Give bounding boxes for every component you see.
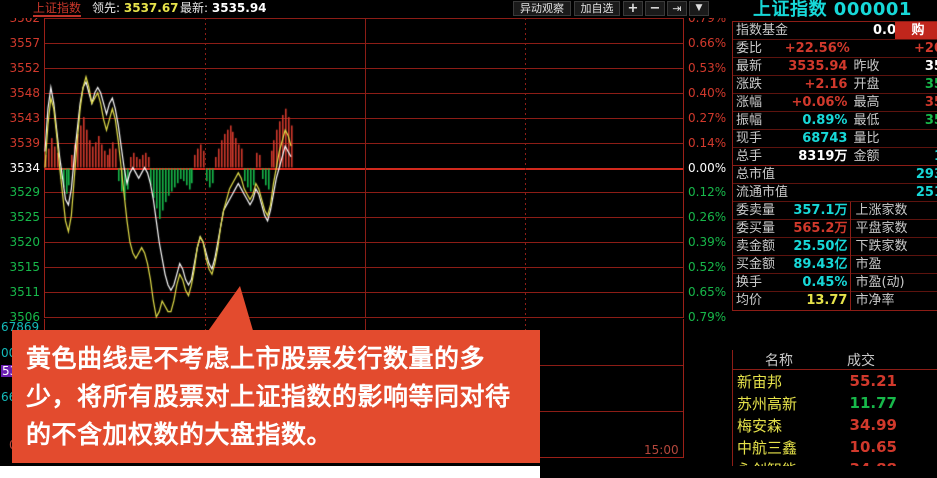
stock-list-row[interactable]: 新宙邦55.21 bbox=[733, 370, 937, 392]
quote-row-label: 总手 bbox=[733, 148, 785, 166]
annotation-callout: 黄色曲线是不考虑上市股票发行数量的多少，将所有股票对上证指数的影响等同对待的不含… bbox=[12, 330, 540, 463]
quote-panel-title: 上证指数 000001 bbox=[728, 0, 937, 20]
stock-price: 11.77 bbox=[825, 394, 897, 412]
quote-row-label: 涨跌 bbox=[733, 76, 785, 94]
quote-row-label-2: 平盘家数 bbox=[850, 220, 937, 238]
stock-name: 苏州高新 bbox=[733, 393, 825, 414]
quote-row-label-2: 最低 bbox=[850, 112, 896, 130]
chart-latest-readout: 最新: 3535.94 bbox=[180, 1, 267, 16]
quote-row-label-2: 金额 bbox=[850, 148, 896, 166]
quote-row-label-2: 开盘 bbox=[850, 76, 896, 94]
chart-legend-index-name: 上证指数 bbox=[33, 1, 81, 17]
quote-row: 总手8319万金额1 bbox=[733, 148, 937, 166]
stock-name: 中航三鑫 bbox=[733, 437, 825, 458]
stock-price: 10.65 bbox=[825, 438, 897, 456]
next-panel-icon[interactable]: ⇥ bbox=[667, 1, 687, 16]
quote-row-label: 振幅 bbox=[733, 112, 785, 130]
chart-lead-readout: 领先: 3537.67 bbox=[92, 1, 179, 16]
quote-row-label-2: 昨收 bbox=[850, 58, 896, 76]
latest-value: 3535.94 bbox=[212, 1, 267, 15]
quote-row-label: 换手 bbox=[733, 274, 785, 292]
quote-row-label: 买金额 bbox=[733, 256, 785, 274]
quote-row-value-2: 35 bbox=[896, 76, 937, 94]
quote-row: 委买量565.2万平盘家数 bbox=[733, 220, 937, 238]
buy-button[interactable]: 购 bbox=[895, 22, 937, 39]
stock-price: 55.21 bbox=[825, 372, 897, 390]
lead-label: 领先: bbox=[92, 1, 120, 15]
quote-row-label: 最新 bbox=[733, 58, 785, 76]
lead-value: 3537.67 bbox=[124, 1, 179, 15]
quote-row: 总市值293 bbox=[733, 166, 937, 184]
quote-row-value: 8319万 bbox=[785, 148, 851, 166]
quote-row: 现手68743量比 bbox=[733, 130, 937, 148]
quote-row: 涨跌+2.16开盘35 bbox=[733, 76, 937, 94]
quote-row-label-2: 量比 bbox=[850, 130, 896, 148]
stock-list-col-price: 成交 bbox=[825, 350, 897, 370]
quote-row-label: 涨幅 bbox=[733, 94, 785, 112]
quote-row: 振幅0.89%最低35 bbox=[733, 112, 937, 130]
quote-row-value: 3535.94 bbox=[785, 58, 851, 76]
annotation-callout-text: 黄色曲线是不考虑上市股票发行数量的多少，将所有股票对上证指数的影响等同对待的不含… bbox=[26, 340, 528, 454]
chevron-down-icon[interactable]: ▼ bbox=[689, 1, 709, 16]
quote-row-value: 251 bbox=[833, 184, 937, 202]
quote-row-value: 89.43亿 bbox=[785, 256, 851, 274]
stock-list-row[interactable]: 梅安森34.99 bbox=[733, 414, 937, 436]
stock-list-header: 名称成交 bbox=[733, 350, 937, 370]
stock-name: 梅安森 bbox=[733, 415, 825, 436]
quote-row-value: 25.50亿 bbox=[785, 238, 851, 256]
stock-list-col-name: 名称 bbox=[733, 350, 825, 370]
quote-row-value: +0.06% bbox=[785, 94, 851, 112]
chart-toolbar: 上证指数 领先: 3537.67 最新: 3535.94 异动观察 加自选 + … bbox=[0, 0, 728, 18]
quote-row-label: 总市值 bbox=[733, 166, 833, 184]
quote-row-value: 0.45% bbox=[785, 274, 851, 292]
callout-pointer bbox=[206, 286, 254, 334]
quote-row: 买金额89.43亿市盈 bbox=[733, 256, 937, 274]
zoom-in-icon[interactable]: + bbox=[623, 1, 643, 16]
quote-row-value-2: 35 bbox=[896, 58, 937, 76]
quote-row-value: 68743 bbox=[785, 130, 851, 148]
quote-row-label: 现手 bbox=[733, 130, 785, 148]
quote-row-label-2: 下跌家数 bbox=[850, 238, 937, 256]
quote-row: 委比+22.56%+20 bbox=[733, 40, 937, 58]
quote-row-label-2: 市净率 bbox=[850, 292, 937, 310]
stock-list-row[interactable]: 苏州高新11.77 bbox=[733, 392, 937, 414]
quote-row: 委卖量357.1万上涨家数 bbox=[733, 202, 937, 220]
quote-row-value: 293 bbox=[833, 166, 937, 184]
quote-row-value: 13.77 bbox=[785, 292, 851, 310]
quote-row-value-2: 35 bbox=[896, 94, 937, 112]
quote-row-value-2: 1 bbox=[896, 148, 937, 166]
zoom-out-icon[interactable]: − bbox=[645, 1, 665, 16]
latest-label: 最新: bbox=[180, 1, 208, 15]
quote-row: 流通市值251 bbox=[733, 184, 937, 202]
quote-table: 指数基金0.00%[年]委比+22.56%+20最新3535.94昨收35涨跌+… bbox=[732, 21, 937, 311]
quote-row-label: 委比 bbox=[733, 40, 785, 58]
stock-price: 34.99 bbox=[825, 416, 897, 434]
abnormal-watch-button[interactable]: 异动观察 bbox=[513, 1, 571, 16]
quote-row-label-2: 上涨家数 bbox=[850, 202, 937, 220]
quote-row-value: +22.56% bbox=[785, 40, 851, 58]
quote-row-label: 委卖量 bbox=[733, 202, 785, 220]
quote-row-value-2: +20 bbox=[896, 40, 937, 58]
quote-row-value: 565.2万 bbox=[785, 220, 851, 238]
quote-row-value: 0.89% bbox=[785, 112, 851, 130]
quote-row-value: +2.16 bbox=[785, 76, 851, 94]
quote-row-label-2: 最高 bbox=[850, 94, 896, 112]
quote-row-value: 357.1万 bbox=[785, 202, 851, 220]
quote-row: 卖金额25.50亿下跌家数 bbox=[733, 238, 937, 256]
stock-name: 新宙邦 bbox=[733, 371, 825, 392]
bottom-dark-strip bbox=[540, 466, 937, 478]
quote-row-label-2: 市盈(动) bbox=[850, 274, 937, 292]
quote-row-label: 卖金额 bbox=[733, 238, 785, 256]
time-axis-end-label: 15:00 bbox=[644, 443, 679, 457]
quote-row: 最新3535.94昨收35 bbox=[733, 58, 937, 76]
quote-panel: 上证指数 000001 购 指数基金0.00%[年]委比+22.56%+20最新… bbox=[728, 0, 937, 478]
quote-row-label: 指数基金 bbox=[733, 22, 833, 40]
quote-row-label: 均价 bbox=[733, 292, 785, 310]
add-to-watchlist-button[interactable]: 加自选 bbox=[574, 1, 620, 16]
quote-row: 涨幅+0.06%最高35 bbox=[733, 94, 937, 112]
quote-row-label-2: 市盈 bbox=[850, 256, 937, 274]
quote-row-label: 委买量 bbox=[733, 220, 785, 238]
quote-row-value-2: 35 bbox=[896, 112, 937, 130]
stock-list-row[interactable]: 中航三鑫10.65 bbox=[733, 436, 937, 458]
quote-row: 均价13.77市净率 bbox=[733, 292, 937, 310]
quote-row: 换手0.45%市盈(动) bbox=[733, 274, 937, 292]
stock-list-table[interactable]: 名称成交新宙邦55.21苏州高新11.77梅安森34.99中航三鑫10.65永创… bbox=[732, 350, 937, 478]
quote-row-label: 流通市值 bbox=[733, 184, 833, 202]
